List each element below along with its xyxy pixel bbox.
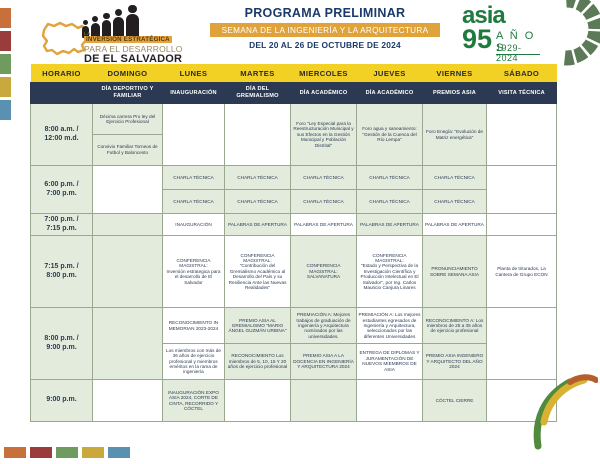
schedule-cell: PREMIACIÓN A: Los mejores estudiantes eg… [357,308,423,380]
schedule-entry [487,342,556,345]
schedule-cell: CHARLA TÉCNICACHARLA TÉCNICA [225,166,291,214]
schedule-table-wrap: HORARIO DOMINGO LUNES MARTES MIERCOLES J… [30,64,556,422]
column-header-jueves: JUEVES [357,64,423,83]
schedule-table-body: DÍA DEPORTIVO Y FAMILIARINAUGURACIÓNDÍA … [31,83,557,422]
schedule-entry: PREMIO ASIA A LA DOCENCIA EN INGENIERÍA … [291,343,356,379]
schedule-cell: Foro agua y saneamiento: "Gestión de la … [357,104,423,166]
schedule-cell: PALABRAS DE APERTURA [357,214,423,236]
color-chip-orange [4,447,26,458]
schedule-entry: CHARLA TÉCNICA [225,189,290,213]
schedule-cell: CHARLA TÉCNICACHARLA TÉCNICA [357,166,423,214]
schedule-entry: CONFERENCIA MAGISTRAL: "Contribución del… [225,251,290,292]
schedule-cell: CHARLA TÉCNICACHARLA TÉCNICA [291,166,357,214]
schedule-cell: CÓCTEL CIERRE [423,380,487,422]
page-date-range: DEL 20 AL 26 DE OCTUBRE DE 2024 [210,40,440,50]
schedule-entry: PREMIO ASIA AL GREMIALISMO "MARIO ÁNGEL … [225,309,290,344]
schedule-cell: CONFERENCIA MAGISTRAL: "Estado y Perspec… [357,236,423,308]
schedule-entry: Foro Enegía: "Evolución de Matriz energé… [423,128,486,142]
schedule-cell: PALABRAS DE APERTURA [423,214,487,236]
schedule-entry: RECONOCIMIENTO Los miembros de 5, 10, 15… [225,343,290,379]
column-header-sabado: SÁBADO [487,64,557,83]
schedule-entry [357,399,422,402]
schedule-entry: CONFERENCIA MAGISTRAL: SALVANATURA [291,262,356,281]
schedule-entry [487,133,556,136]
time-slot-cell: 7:00 p.m. / 7:15 p.m. [31,214,93,236]
schedule-cell: CHARLA TÉCNICACHARLA TÉCNICA [163,166,225,214]
schedule-entry: PALABRAS DE APERTURA [423,220,486,228]
schedule-entry: RECONOCIMIENTO IN MEMORIAN 2023-2024 [163,309,224,344]
time-slot-cell: 9:00 p.m. [31,380,93,422]
schedule-entry: CHARLA TÉCNICA [163,189,224,213]
column-header-viernes: VIERNES [423,64,487,83]
schedule-entry: RECONOCIMIENTO A: Los miembros de 25 a 3… [423,309,486,344]
schedule-entry: PREMIACIÓN A: Mejores trabajos de gradua… [291,309,356,344]
table-row: 6:00 p.m. / 7:00 p.m.CHARLA TÉCNICACHARL… [31,166,557,214]
color-chip-green [56,447,78,458]
schedule-entry: Foro agua y saneamiento: "Gestión de la … [357,125,422,144]
table-row: 7:15 p.m. / 8:00 p.m.CONFERENCIA MAGISTR… [31,236,557,308]
color-chip-gold [0,77,11,97]
color-chip-red [30,447,52,458]
person-icon [102,13,112,39]
person-icon [91,16,100,38]
schedule-entry: CHARLA TÉCNICA [423,167,486,190]
subheader-cell-miercoles: DÍA ACADÉMICO [291,83,357,104]
schedule-entry: CHARLA TÉCNICA [291,167,356,190]
schedule-entry: PREMIO ASIA INGENIERO Y ARQUITECTO DEL A… [423,343,486,379]
schedule-cell [487,166,557,214]
swirl-decoration [532,366,598,450]
schedule-cell [93,380,163,422]
subheader-cell-horario [31,83,93,104]
schedule-cell: RECONOCIMIENTO A: Los miembros de 25 a 3… [423,308,487,380]
color-chip-blue [108,447,130,458]
time-slot-cell: 7:15 p.m. / 8:00 p.m. [31,236,93,308]
schedule-entry [291,399,356,402]
schedule-entry [487,188,556,191]
schedule-entry [93,223,162,226]
schedule-cell: PREMIACIÓN A: Mejores trabajos de gradua… [291,308,357,380]
color-chip-blue [0,100,11,120]
schedule-cell: PREMIO ASIA AL GREMIALISMO "MARIO ÁNGEL … [225,308,291,380]
schedule-cell [163,104,225,166]
schedule-entry: INAUGURACIÓN EXPO ASIA 2024, CORTE DE CI… [163,388,224,413]
logo-inversion-estrategica: LA INVERSIÓN ESTRATÉGICA PARA EL DESARRO… [36,4,196,62]
schedule-cell: INAUGURACIÓN EXPO ASIA 2024, CORTE DE CI… [163,380,225,422]
time-slot-cell: 8:00 p.m. / 9:00 p.m. [31,308,93,380]
bottom-color-chips [4,447,130,458]
schedule-cell [225,104,291,166]
schedule-entry: Foro "Ley Especial para la Reestructurac… [291,119,356,149]
schedule-cell: Planta de triturados, La Cantera de Grup… [487,236,557,308]
schedule-cell: RECONOCIMIENTO IN MEMORIAN 2023-2024Los … [163,308,225,380]
schedule-cell: Foro "Ley Especial para la Reestructurac… [291,104,357,166]
schedule-entry: CHARLA TÉCNICA [163,167,224,190]
schedule-entry [93,399,162,402]
people-icon-group [82,4,174,38]
schedule-cell [225,380,291,422]
subheader-cell-martes: DÍA DEL GREMIALISMO [225,83,291,104]
schedule-entry: CÓCTEL CIERRE [423,396,486,404]
schedule-cell: Décima carrera Pro ley del Ejercicio Pro… [93,104,163,166]
schedule-cell [93,308,163,380]
schedule-entry: Décima carrera Pro ley del Ejercicio Pro… [93,105,162,135]
schedule-entry: CHARLA TÉCNICA [291,189,356,213]
table-subheader-row: DÍA DEPORTIVO Y FAMILIARINAUGURACIÓNDÍA … [31,83,557,104]
schedule-cell: CHARLA TÉCNICACHARLA TÉCNICA [423,166,487,214]
table-row: 7:00 p.m. / 7:15 p.m.INAUGURACIÓNPALABRA… [31,214,557,236]
schedule-entry: CHARLA TÉCNICA [225,167,290,190]
logo-line-2: INVERSIÓN ESTRATÉGICA [84,36,172,43]
schedule-entry [93,188,162,191]
schedule-cell [93,214,163,236]
person-icon [113,9,124,39]
table-row: 9:00 p.m.INAUGURACIÓN EXPO ASIA 2024, CO… [31,380,557,422]
schedule-cell [487,214,557,236]
schedule-cell [487,104,557,166]
time-slot-cell: 8:00 a.m. / 12:00 m.d. [31,104,93,166]
column-header-martes: MARTES [225,64,291,83]
schedule-cell [291,380,357,422]
schedule-cell [93,166,163,214]
schedule-entry: PALABRAS DE APERTURA [291,220,356,228]
schedule-entry: PRONUNCIAMIENTO SOBRE SEMANA ASIA [423,265,486,279]
schedule-cell [357,380,423,422]
page-title: PROGRAMA PRELIMINAR [210,6,440,20]
column-header-domingo: DOMINGO [93,64,163,83]
person-icon [126,5,139,39]
schedule-entry: CONFERENCIA MAGISTRAL: "Estado y Perspec… [357,251,422,292]
schedule-cell: Foro Enegía: "Evolución de Matriz energé… [423,104,487,166]
schedule-entry [225,133,290,136]
table-row: 8:00 a.m. / 12:00 m.d.Décima carrera Pro… [31,104,557,166]
table-header-row: HORARIO DOMINGO LUNES MARTES MIERCOLES J… [31,64,557,83]
schedule-entry: INAUGURACIÓN [163,220,224,228]
header-title-block: PROGRAMA PRELIMINAR SEMANA DE LA INGENIE… [210,6,440,50]
schedule-entry: CHARLA TÉCNICA [423,189,486,213]
subheader-cell-sábado: VISITA TÉCNICA [487,83,557,104]
schedule-entry: PALABRAS DE APERTURA [357,220,422,228]
schedule-cell: CONFERENCIA MAGISTRAL: Inversión estrate… [163,236,225,308]
time-slot-cell: 6:00 p.m. / 7:00 p.m. [31,166,93,214]
schedule-entry [163,133,224,136]
subheader-cell-jueves: DÍA ACADÉMICO [357,83,423,104]
schedule-table: HORARIO DOMINGO LUNES MARTES MIERCOLES J… [30,64,557,422]
schedule-entry: PREMIACIÓN A: Los mejores estudiantes eg… [357,309,422,344]
program-schedule-page: LA INVERSIÓN ESTRATÉGICA PARA EL DESARRO… [0,0,600,464]
schedule-entry: Planta de triturados, La Cantera de Grup… [487,265,556,279]
schedule-entry: CHARLA TÉCNICA [357,189,422,213]
schedule-entry: CONFERENCIA MAGISTRAL: Inversión estrate… [163,256,224,286]
page-header: LA INVERSIÓN ESTRATÉGICA PARA EL DESARRO… [0,0,600,62]
schedule-entry [93,342,162,345]
page-subtitle: SEMANA DE LA INGENIERÍA Y LA ARQUITECTUR… [210,23,440,37]
table-row: 8:00 p.m. / 9:00 p.m.RECONOCIMIENTO IN M… [31,308,557,380]
subheader-cell-domingo: DÍA DEPORTIVO Y FAMILIAR [93,83,163,104]
schedule-cell: CONFERENCIA MAGISTRAL: "Contribución del… [225,236,291,308]
asia-anniversary-number: 95 [462,26,492,52]
schedule-entry [487,223,556,226]
schedule-entry: Los miembros con más de 36 años de ejerc… [163,343,224,379]
schedule-cell: PRONUNCIAMIENTO SOBRE SEMANA ASIA [423,236,487,308]
schedule-entry [93,270,162,273]
schedule-cell: INAUGURACIÓN [163,214,225,236]
schedule-entry [225,399,290,402]
subheader-cell-viernes: PREMIOS ASIA [423,83,487,104]
schedule-entry: CHARLA TÉCNICA [357,167,422,190]
column-header-lunes: LUNES [163,64,225,83]
column-header-miercoles: MIERCOLES [291,64,357,83]
schedule-entry: Convivio Familiar Torneos de Futbol y Ba… [93,134,162,165]
subheader-cell-lunes: INAUGURACIÓN [163,83,225,104]
schedule-entry: PALABRAS DE APERTURA [225,220,290,228]
schedule-cell: PALABRAS DE APERTURA [225,214,291,236]
column-header-horario: HORARIO [31,64,93,83]
color-chip-gold [82,447,104,458]
schedule-cell [93,236,163,308]
schedule-cell: PALABRAS DE APERTURA [291,214,357,236]
green-wheel-decoration [528,0,600,68]
schedule-entry: ENTREGA DE DIPLOMAS Y JURAMENTACIÓN DE N… [357,343,422,379]
schedule-cell: CONFERENCIA MAGISTRAL: SALVANATURA [291,236,357,308]
